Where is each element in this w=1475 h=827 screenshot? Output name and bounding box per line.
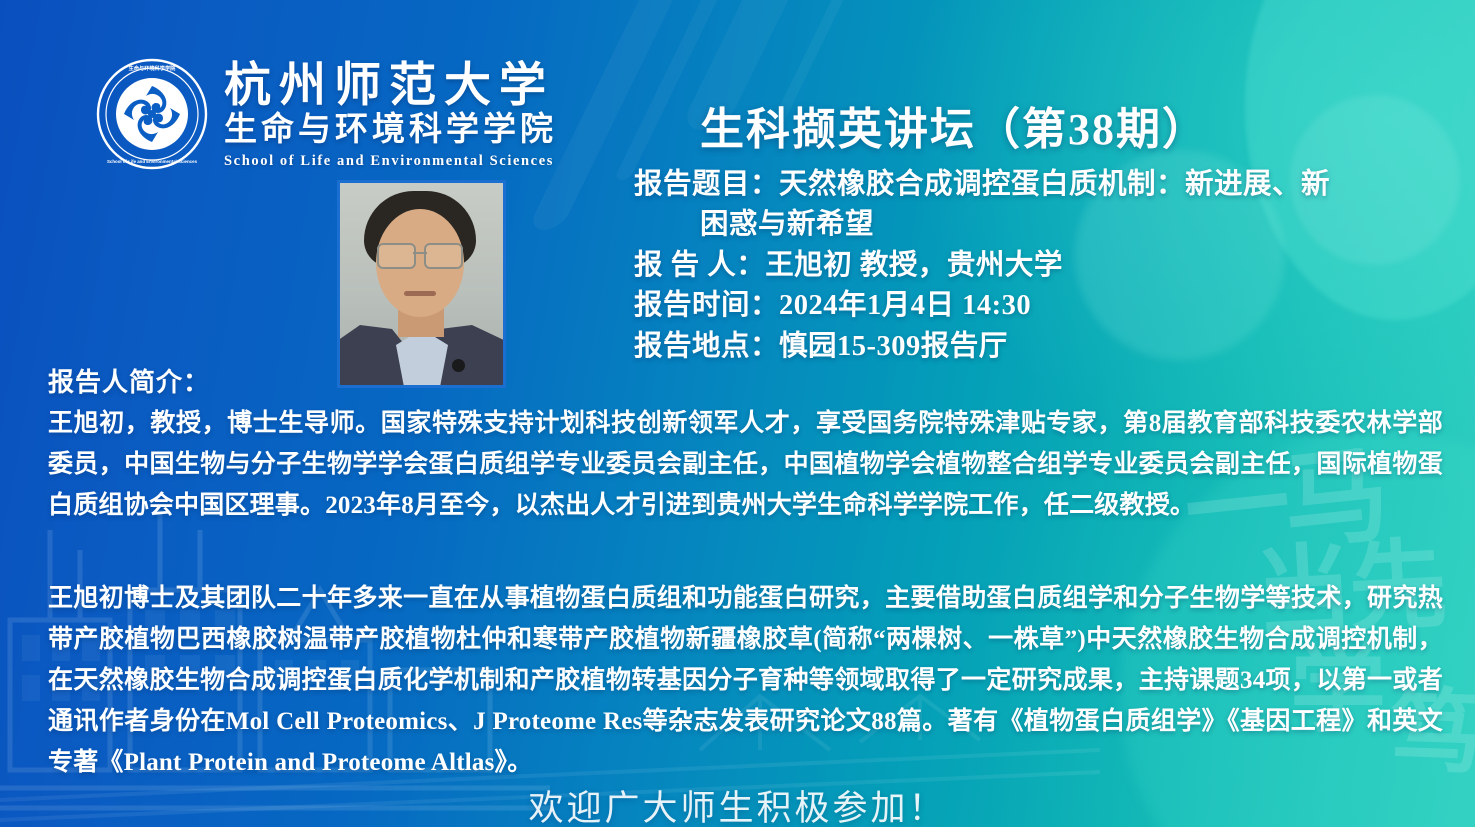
university-logo-block: 生命与环境科学学院 School of Life and Environment… xyxy=(96,58,557,170)
info-topic-line1: 报告题目：天然橡胶合成调控蛋白质机制：新进展、新 xyxy=(634,165,1424,205)
svg-text:生命与环境科学学院: 生命与环境科学学院 xyxy=(129,64,177,72)
school-name-en: School of Life and Environmental Science… xyxy=(224,153,557,170)
bio-paragraph-1: 王旭初，教授，博士生导师。国家特殊支持计划科技创新领军人才，享受国务院特殊津贴专… xyxy=(48,403,1443,526)
info-speaker: 报 告 人：王旭初 教授，贵州大学 xyxy=(634,246,1424,286)
info-venue: 报告地点：慎园15-309报告厅 xyxy=(634,327,1424,367)
welcome-message: 欢迎广大师生积极参加！ xyxy=(0,780,1475,827)
poster-canvas: 一马 当先 学 笃 生命与环境科学学院 School of Life and E… xyxy=(0,0,1475,827)
speaker-photo xyxy=(337,180,506,388)
school-name-cn: 生命与环境科学学院 xyxy=(224,111,557,150)
school-emblem-icon: 生命与环境科学学院 School of Life and Environment… xyxy=(96,58,208,170)
forum-title: 生科撷英讲坛（第38期） xyxy=(700,93,1208,157)
info-topic-line2: 困惑与新希望 xyxy=(634,205,1424,245)
university-name-cn: 杭州师范大学 xyxy=(224,62,557,111)
bio-heading: 报告人简介： xyxy=(48,362,210,399)
info-time: 报告时间：2024年1月4日 14:30 xyxy=(634,286,1424,326)
lecture-info-block: 报告题目：天然橡胶合成调控蛋白质机制：新进展、新 困惑与新希望 报 告 人：王旭… xyxy=(634,165,1424,367)
bio-paragraph-2: 王旭初博士及其团队二十年多来一直在从事植物蛋白质组和功能蛋白研究，主要借助蛋白质… xyxy=(48,578,1443,783)
svg-text:School of Life and Environment: School of Life and Environmental Science… xyxy=(107,159,198,164)
